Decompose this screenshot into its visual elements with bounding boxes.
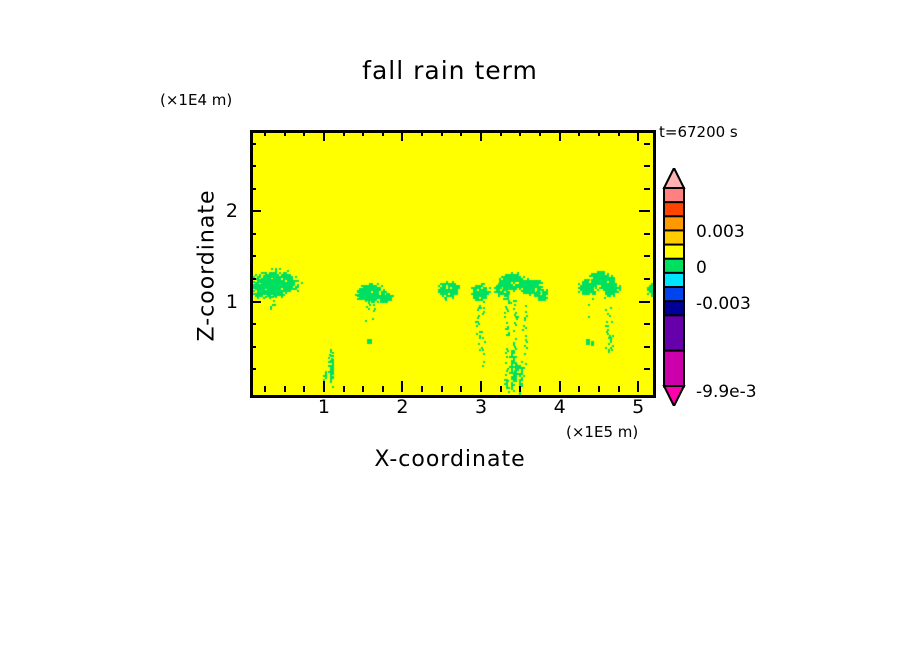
x-tick xyxy=(559,381,561,392)
x-tick-top xyxy=(303,130,305,136)
x-tick-label: 1 xyxy=(318,396,330,418)
x-tick xyxy=(264,386,266,392)
x-tick-top xyxy=(539,130,541,136)
y-tick-right xyxy=(644,323,650,325)
x-tick-top xyxy=(460,130,462,136)
colorbar-band xyxy=(664,245,684,260)
y-tick xyxy=(250,210,261,212)
x-tick xyxy=(303,386,305,392)
y-tick-right xyxy=(639,210,650,212)
page-title: fall rain term xyxy=(250,56,650,85)
colorbar-band xyxy=(664,287,684,302)
y-tick-right xyxy=(644,368,650,370)
y-tick xyxy=(250,233,256,235)
colorbar-band xyxy=(664,202,684,217)
colorbar-band xyxy=(664,273,684,288)
y-axis-title: Z-coordinate xyxy=(195,56,220,476)
x-tick-top xyxy=(284,130,286,136)
x-tick-label: 5 xyxy=(632,396,644,418)
y-tick xyxy=(250,346,256,348)
x-tick-top xyxy=(559,130,561,141)
x-tick xyxy=(382,386,384,392)
y-tick xyxy=(250,368,256,370)
x-tick xyxy=(401,381,403,392)
y-tick xyxy=(250,188,256,190)
time-annotation: t=67200 s xyxy=(659,123,738,141)
x-tick-top xyxy=(362,130,364,136)
x-tick xyxy=(539,386,541,392)
x-tick-top xyxy=(343,130,345,136)
colorbar-band xyxy=(664,315,684,351)
y-tick xyxy=(250,323,256,325)
y-tick-right xyxy=(644,255,650,257)
contour-field xyxy=(253,133,653,395)
x-tick-top xyxy=(441,130,443,136)
y-tick-label: 1 xyxy=(208,291,238,313)
x-tick xyxy=(284,386,286,392)
x-axis-unit-label: (×1E5 m) xyxy=(566,423,638,441)
x-tick-label: 4 xyxy=(554,396,566,418)
y-tick-right xyxy=(644,233,650,235)
x-tick-top xyxy=(323,130,325,141)
x-tick xyxy=(578,386,580,392)
x-tick xyxy=(441,386,443,392)
colorbar-extend-bottom xyxy=(664,386,684,406)
x-tick-top xyxy=(519,130,521,136)
x-tick-top xyxy=(618,130,620,136)
colorbar-band xyxy=(664,259,684,274)
x-tick xyxy=(343,386,345,392)
y-tick xyxy=(250,301,261,303)
x-tick xyxy=(618,386,620,392)
x-tick-label: 2 xyxy=(396,396,408,418)
x-tick-top xyxy=(578,130,580,136)
x-tick xyxy=(500,386,502,392)
colorbar-band xyxy=(664,230,684,245)
colorbar-tick-label: -0.003 xyxy=(696,294,751,314)
x-tick xyxy=(421,386,423,392)
x-tick-top xyxy=(598,130,600,136)
x-tick-top xyxy=(637,130,639,141)
x-tick xyxy=(637,381,639,392)
colorbar-tick-label: 0 xyxy=(696,258,707,278)
x-tick xyxy=(460,386,462,392)
y-tick-right xyxy=(644,188,650,190)
x-tick-top xyxy=(264,130,266,136)
x-tick-top xyxy=(421,130,423,136)
y-tick xyxy=(250,255,256,257)
x-tick xyxy=(323,381,325,392)
y-tick-right xyxy=(639,301,650,303)
y-tick-label: 2 xyxy=(208,200,238,222)
y-tick xyxy=(250,278,256,280)
x-tick-top xyxy=(500,130,502,136)
x-tick-top xyxy=(401,130,403,141)
colorbar xyxy=(661,168,687,406)
y-tick-right xyxy=(644,165,650,167)
figure-canvas: fall rain term (×1E4 m) Z-coordinate X-c… xyxy=(0,0,904,654)
x-tick xyxy=(362,386,364,392)
colorbar-band xyxy=(664,216,684,231)
x-tick xyxy=(519,386,521,392)
colorbar-band xyxy=(664,301,684,316)
x-axis-title: X-coordinate xyxy=(250,447,650,472)
y-tick-right xyxy=(644,278,650,280)
plot-area xyxy=(250,130,656,398)
x-tick xyxy=(480,381,482,392)
colorbar-extend-top xyxy=(664,168,684,188)
y-tick xyxy=(250,143,256,145)
y-tick-right xyxy=(644,346,650,348)
x-tick-top xyxy=(382,130,384,136)
x-tick-label: 3 xyxy=(475,396,487,418)
colorbar-tick-label: -9.9e-3 xyxy=(696,382,757,402)
x-tick xyxy=(598,386,600,392)
colorbar-band xyxy=(664,351,684,387)
colorbar-tick-label: 0.003 xyxy=(696,222,745,242)
x-tick-top xyxy=(480,130,482,141)
y-tick-right xyxy=(644,143,650,145)
y-tick xyxy=(250,165,256,167)
colorbar-band xyxy=(664,188,684,203)
